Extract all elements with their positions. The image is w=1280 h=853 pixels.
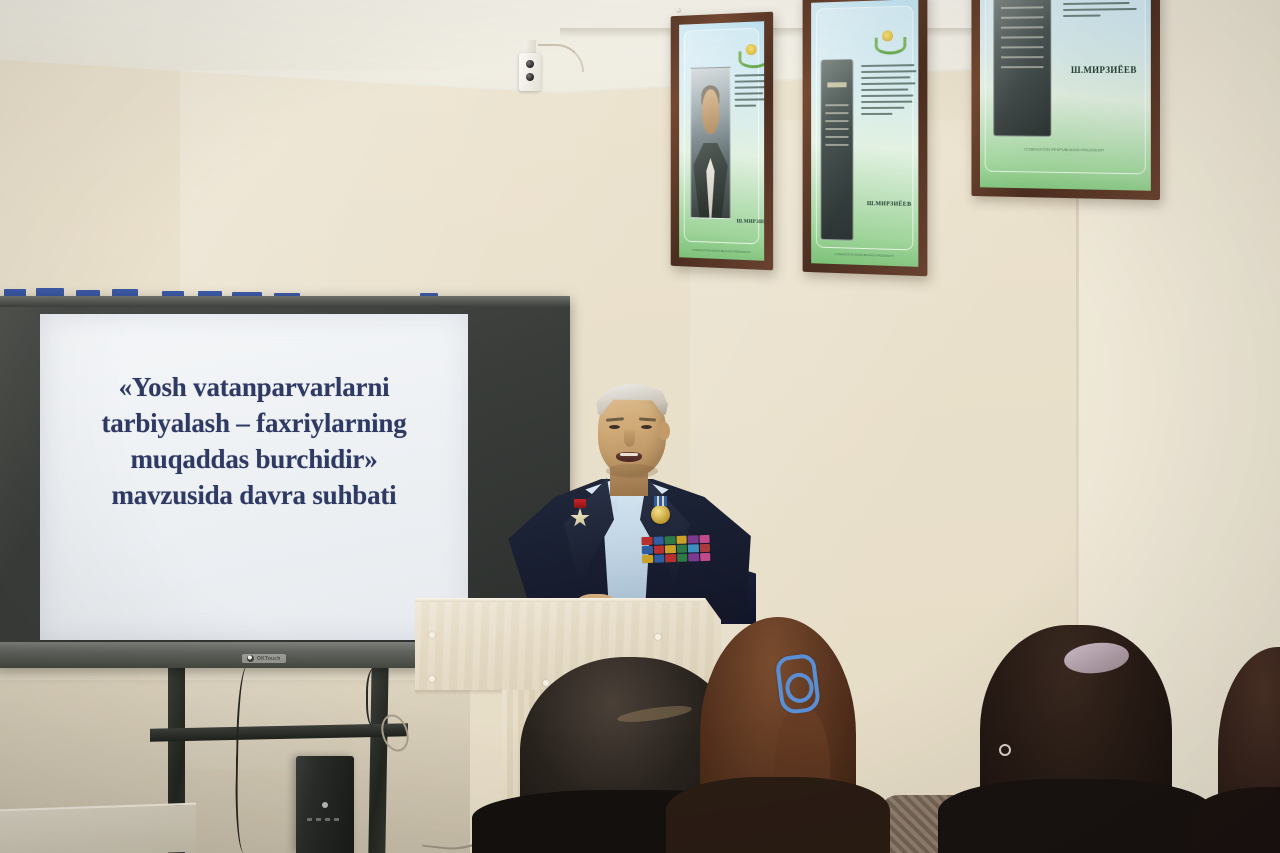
slide-line-3: muqaddas burchidir»	[54, 442, 454, 478]
brand-name-label: OKTouch	[257, 656, 281, 662]
poster-text-block	[1063, 0, 1145, 21]
speaker-mouth	[616, 452, 642, 462]
pc-logo-icon	[322, 802, 328, 808]
red-star-medal-icon	[570, 506, 590, 526]
pc-front-ports	[307, 818, 339, 821]
speaker-teeth	[620, 453, 638, 456]
slide-line-4: mavzusida davra suhbati	[54, 478, 454, 514]
poster-signature: Ш.МИРЗИЁЕВ	[867, 201, 911, 208]
ribbon-bar	[688, 544, 699, 552]
brand-logo-icon	[247, 655, 254, 662]
poster-footer: O'ZBEKISTON RESPUBLIKASI PREZIDENTI	[826, 252, 903, 258]
earring-icon	[999, 744, 1011, 756]
ribbon-bar	[676, 545, 687, 553]
medal-ribbon-striped	[654, 496, 667, 506]
book-header-band	[827, 82, 847, 87]
framed-poster-1: Ш.МИРЗИЁЕВ O'ZBEKISTON RESPUBLIKASI PREZ…	[671, 12, 773, 271]
poster-book-graphic	[993, 0, 1051, 137]
medal-star-shape	[570, 508, 590, 528]
uzbekistan-emblem-icon	[738, 42, 764, 67]
display-brand-plate: OKTouch	[242, 654, 286, 663]
poster-nail	[676, 8, 681, 13]
desktop-computer-tower	[296, 756, 354, 853]
ribbon-bar	[664, 536, 675, 544]
poster-text-block	[735, 74, 765, 111]
president-portrait	[690, 67, 730, 220]
slide-line-1: «Yosh vatanparvarlarni	[54, 370, 454, 406]
framed-poster-2: Ш.МИРЗИЁЕВ O'ZBEKISTON RESPUBLIKASI PREZ…	[803, 0, 928, 276]
poster-text-block	[861, 64, 916, 119]
speaker-chin-shadow	[606, 464, 658, 478]
emblem-wreath	[738, 50, 764, 68]
ribbon-bar	[642, 546, 653, 554]
camera-mount	[524, 40, 536, 54]
ribbon-bar	[699, 535, 710, 543]
poster-mat: Ш.МИРЗИЁЕВ O'ZBEKISTON RESPUBLIKASI PREZ…	[679, 21, 764, 261]
security-camera-icon	[519, 53, 541, 91]
audience-shoulders	[938, 779, 1214, 853]
ribbon-bar	[653, 536, 664, 544]
medal-ribbon	[574, 499, 586, 508]
audience-member-4	[1218, 647, 1280, 853]
display-side-shadow	[0, 307, 40, 647]
ribbon-bar	[654, 554, 665, 562]
conference-room-photo: Ш.МИРЗИЁЕВ O'ZBEKISTON RESPUBLIKASI PREZ…	[0, 0, 1280, 853]
presentation-slide: «Yosh vatanparvarlarni tarbiyalash – fax…	[40, 314, 468, 640]
ribbon-bar	[676, 536, 687, 544]
poster-mat: Ш.МИРЗИЁЕВ O'ZBEKISTON RESPUBLIKASI PREZ…	[980, 0, 1151, 191]
table-edge	[0, 803, 196, 853]
ribbon-bar	[688, 553, 699, 561]
gold-round-medal-icon	[651, 505, 670, 524]
wall-banner-partial	[0, 281, 448, 297]
portrait-head	[702, 89, 719, 134]
speaker-ear	[658, 422, 670, 440]
speaker-nose	[624, 430, 635, 447]
ribbon-bar	[687, 535, 698, 543]
ribbon-bar	[677, 554, 688, 562]
display-stand-leg-right	[368, 664, 388, 853]
speaker-eye-right	[641, 425, 652, 429]
uzbekistan-emblem-icon	[875, 28, 901, 53]
ribbon-bar	[699, 544, 710, 552]
audience-shoulders	[666, 777, 891, 853]
ribbon-bar	[642, 555, 653, 563]
camera-lens-upper	[526, 60, 534, 68]
audience-member-3	[980, 625, 1172, 853]
poster-mat: Ш.МИРЗИЁЕВ O'ZBEKISTON RESPUBLIKASI PREZ…	[811, 0, 918, 267]
speaker-veteran	[498, 378, 756, 618]
ribbon-bar-block	[641, 535, 710, 567]
speaker-eye-left	[609, 425, 620, 429]
audience-member-2	[700, 617, 856, 853]
framed-poster-3: Ш.МИРЗИЁЕВ O'ZBEKISTON RESPUBLIKASI PREZ…	[971, 0, 1160, 200]
podium-top-lip	[415, 598, 721, 602]
display-bezel-top	[0, 296, 570, 307]
poster-signature: Ш.МИРЗИЁЕВ	[1071, 65, 1137, 75]
ribbon-bar	[665, 545, 676, 553]
slide-line-2: tarbiyalash – faxriylarning	[54, 406, 454, 442]
slide-title-text: «Yosh vatanparvarlarni tarbiyalash – fax…	[40, 370, 468, 514]
ribbon-bar	[700, 553, 711, 561]
camera-lens-lower	[526, 73, 534, 81]
ribbon-bar	[641, 537, 652, 545]
ribbon-bar	[665, 554, 676, 562]
poster-footer: O'ZBEKISTON RESPUBLIKASI PREZIDENTI	[691, 248, 752, 254]
blue-hair-clip-icon	[775, 653, 822, 715]
poster-book-graphic	[821, 59, 854, 241]
ribbon-bar	[653, 545, 664, 553]
